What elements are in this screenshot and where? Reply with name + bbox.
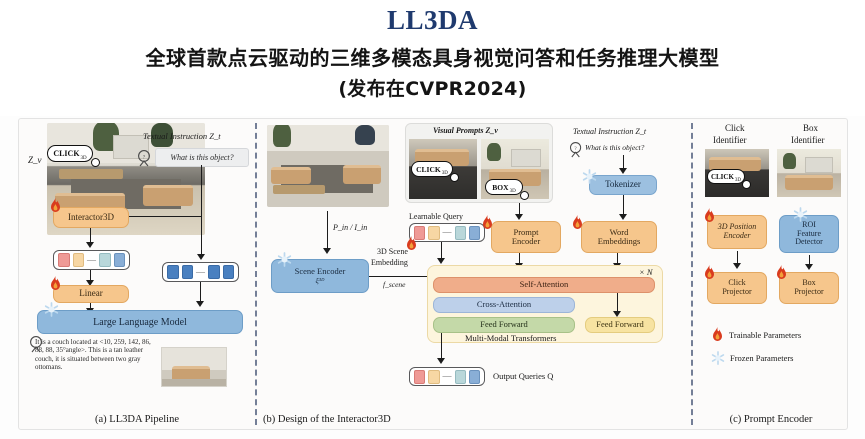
click-projector-box[interactable]: Click Projector	[707, 272, 767, 304]
arrow-interactor-to-query-a	[90, 228, 91, 243]
learnable-token-orange-b	[428, 226, 439, 240]
click-bubble-sub-c: 3D	[735, 178, 741, 183]
arrow-transformer-to-output-b	[441, 333, 442, 359]
output-token-ellipsis-b: —	[443, 372, 452, 381]
svg-text:?: ?	[574, 146, 577, 152]
scene-embedding-l3-b: f_scene	[383, 280, 406, 289]
position-encoder-line2: Encoder	[723, 232, 750, 241]
arrowhead-text-llm-a	[196, 301, 204, 307]
page-header: LL3DA 全球首款点云驱动的三维多模态具身视觉问答和任务推理大模型 (发布在C…	[0, 0, 865, 116]
panel-b-caption: (b) Design of the Interactor3D	[263, 414, 697, 425]
flame-icon-prompt-encoder-b	[481, 215, 494, 231]
transformer-label-b: Multi-Modal Transformers	[465, 333, 556, 343]
svg-text:?: ?	[143, 155, 146, 161]
legend-trainable-label: Trainable Parameters	[729, 330, 801, 340]
self-attention-box[interactable]: Self-Attention	[433, 277, 655, 293]
feed-forward-box-left[interactable]: Feed Forward	[433, 317, 575, 333]
arrow-instruction-down-a	[201, 165, 202, 216]
legend-frozen: Frozen Parameters	[711, 351, 794, 365]
arrowhead-roi-boxproj-c	[805, 264, 813, 270]
arrow-scene-embedding-b	[369, 276, 431, 277]
instruction-chip-a: What is this object?	[155, 148, 249, 167]
prompt-encoder-box[interactable]: Prompt Encoder	[491, 221, 561, 253]
large-language-model-box[interactable]: Large Language Model	[37, 310, 243, 334]
box-identifier-photo-c	[777, 149, 841, 197]
box-projector-box[interactable]: Box Projector	[779, 272, 839, 304]
subtitle-line-2: (发布在CVPR2024)	[338, 74, 526, 101]
arrow-tokenizer-to-word-emb-b	[623, 195, 624, 215]
click-bubble-label-a: CLICK	[53, 149, 79, 158]
text-token-4-a	[223, 265, 235, 279]
flame-icon-click-projector-c	[703, 265, 716, 281]
linear-box[interactable]: Linear	[53, 285, 129, 303]
query-token-teal-a	[99, 253, 111, 267]
box-projector-line2: Projector	[794, 288, 823, 297]
click-bubble-label-c: CLICK	[711, 173, 734, 181]
arrow-query-into-transformer-b	[441, 242, 442, 259]
click-bubble-sub-a: 3D	[81, 156, 87, 161]
box-identifier-l1: Box	[803, 123, 818, 133]
snowflake-icon-roi-detector-c	[793, 207, 808, 222]
text-token-row-a: —	[162, 262, 239, 282]
click-bubble-dot-a	[91, 158, 100, 167]
arrow-text-tokens-to-llm-a	[200, 282, 201, 302]
query-token-red-a	[58, 253, 70, 267]
click-identifier-l2: Identifier	[713, 135, 746, 145]
arrowhead-selfattn-ffright-b	[613, 311, 621, 317]
output-queries-label-b: Output Queries Q	[493, 371, 553, 381]
panel-a-caption: (a) LL3DA Pipeline	[19, 414, 255, 425]
scene-embedding-l2-b: Embedding	[371, 258, 408, 267]
roi-detector-line3: Detector	[795, 238, 823, 247]
answer-text-a: It is a couch located at <10, 259, 142, …	[35, 338, 157, 371]
arrowhead-transformer-output-b	[437, 358, 445, 364]
query-token-row-a: —	[53, 250, 130, 270]
learnable-token-blue-b	[469, 226, 480, 240]
subtitle-line-1: 全球首款点云驱动的三维多模态具身视觉问答和任务推理大模型	[146, 42, 720, 71]
arrowhead-query-transformer-b	[437, 258, 445, 264]
output-token-blue-b	[469, 370, 480, 384]
figure-root: LL3DA 全球首款点云驱动的三维多模态具身视觉问答和任务推理大模型 (发布在C…	[0, 0, 865, 439]
visual-prompt-symbol-a: Z_v	[28, 155, 42, 165]
scene-encoder-symbol: ξ³ᴰ	[315, 277, 324, 285]
query-token-orange-a	[73, 253, 85, 267]
snowflake-icon-llm-a	[44, 302, 59, 317]
flame-icon-legend	[711, 327, 724, 343]
arrow-pointcloud-b	[327, 211, 328, 249]
cross-attention-box[interactable]: Cross-Attention	[433, 297, 575, 313]
click-bubble-dot-b	[450, 173, 459, 182]
answer-thumbnail-a	[161, 347, 227, 387]
learnable-query-label-b: Learnable Query	[409, 212, 463, 221]
arrowhead-posenc-clickproj-c	[733, 263, 741, 269]
textual-instruction-label-a: Textual Instruction Z_t	[143, 131, 221, 141]
box-bubble-sub-b: 3D	[510, 189, 516, 194]
click-bubble-sub-b: 3D	[442, 171, 448, 176]
scene-photo-b	[267, 125, 389, 207]
query-token-blue-a	[114, 253, 126, 267]
output-query-token-row-b: —	[409, 367, 485, 386]
snowflake-icon-tokenizer-b	[582, 169, 597, 184]
output-token-teal-b	[455, 370, 466, 384]
snowflake-icon-scene-encoder-b	[277, 252, 292, 267]
text-token-ellipsis-a: —	[196, 268, 205, 277]
figure-container: Z_v CLICK 3D Textual Instruction Z_t ? W…	[18, 118, 848, 430]
flame-icon-word-embeddings-b	[571, 215, 584, 231]
legend-frozen-label: Frozen Parameters	[730, 353, 794, 363]
legend-trainable: Trainable Parameters	[711, 327, 801, 343]
position-encoder-box[interactable]: 3D Position Encoder	[707, 215, 767, 249]
interactor3d-box[interactable]: Interactor3D	[53, 207, 129, 228]
click-bubble-label-b: CLICK	[416, 165, 441, 174]
instruction-text-b: What is this object?	[585, 143, 644, 152]
output-token-orange-b	[428, 370, 439, 384]
word-embeddings-box[interactable]: Word Embeddings	[581, 221, 657, 253]
flame-icon-box-projector-c	[775, 265, 788, 281]
box-identifier-l2: Identifier	[791, 135, 824, 145]
panel-c-prompt-encoder: Click Identifier Box Identifier CLICK 3D	[693, 119, 849, 431]
panel-a-pipeline: Z_v CLICK 3D Textual Instruction Z_t ? W…	[19, 119, 255, 431]
page-title: LL3DA	[387, 6, 478, 36]
box-bubble-b: BOX 3D	[485, 179, 523, 195]
roi-feature-detector-box[interactable]: ROI Feature Detector	[779, 215, 839, 253]
text-token-2-a	[182, 265, 194, 279]
text-token-1-a	[167, 265, 179, 279]
tokenizer-box[interactable]: Tokenizer	[589, 175, 657, 195]
click-bubble-dot-c	[742, 180, 751, 189]
click-bubble-b: CLICK 3D	[411, 161, 453, 177]
pointcloud-label-b: P_in / I_in	[333, 223, 367, 232]
word-embeddings-line2: Embeddings	[598, 237, 641, 246]
scene-embedding-l1-b: 3D Scene	[377, 247, 408, 256]
arrow-selfattn-to-ffright-b	[617, 293, 618, 312]
learnable-token-teal-b	[455, 226, 466, 240]
textual-instruction-label-b: Textual Instruction Z_t	[573, 127, 646, 136]
box-bubble-label-b: BOX	[492, 183, 508, 192]
flame-icon-position-encoder-c	[703, 208, 716, 224]
panel-c-caption: (c) Prompt Encoder	[693, 414, 849, 425]
arrowhead-instruction-tokenizer-b	[619, 168, 627, 174]
arrow-instruction-to-tokenizer-b	[623, 155, 624, 169]
visual-prompts-label-b: Visual Prompts Z_v	[433, 126, 498, 135]
learnable-token-ellipsis-b: —	[443, 228, 452, 237]
box-bubble-dot-b	[520, 191, 529, 200]
snowflake-icon-legend	[711, 351, 725, 365]
arrowhead-to-tokens-a	[197, 254, 205, 260]
output-token-red-b	[414, 370, 425, 384]
arrowhead-pointcloud-b	[323, 248, 331, 254]
person-question-icon-a: ?	[137, 149, 153, 167]
flame-icon-linear-a	[49, 276, 62, 292]
arrowhead-interactor-query-a	[86, 242, 94, 248]
person-question-icon-b: ?	[569, 141, 584, 158]
panel-b-interactor-design: Visual Prompts Z_v CLICK 3D BOX 3D Textu…	[257, 119, 691, 431]
click-bubble-a: CLICK 3D	[47, 145, 93, 162]
feed-forward-box-right[interactable]: Feed Forward	[585, 317, 655, 333]
flame-icon-interactor-a	[49, 198, 62, 214]
arrow-instruction-left-a	[123, 216, 201, 217]
text-token-3-a	[208, 265, 220, 279]
flame-icon-learnable-query-b	[405, 236, 418, 252]
click-identifier-l1: Click	[725, 123, 745, 133]
click-projector-line2: Projector	[722, 288, 751, 297]
arrowhead-tokenizer-word-b	[619, 214, 627, 220]
repeat-n-label-b: × N	[639, 267, 653, 277]
learnable-query-token-row-b: —	[409, 223, 485, 242]
prompt-encoder-line2: Encoder	[512, 237, 540, 246]
click-bubble-c: CLICK 3D	[707, 169, 745, 184]
arrow-instruction-to-tokens-a	[201, 216, 202, 254]
arrowhead-visualprompt-promptenc-b	[515, 214, 523, 220]
person-answer-icon-a	[29, 335, 45, 353]
query-token-ellipsis-a: —	[87, 256, 96, 265]
